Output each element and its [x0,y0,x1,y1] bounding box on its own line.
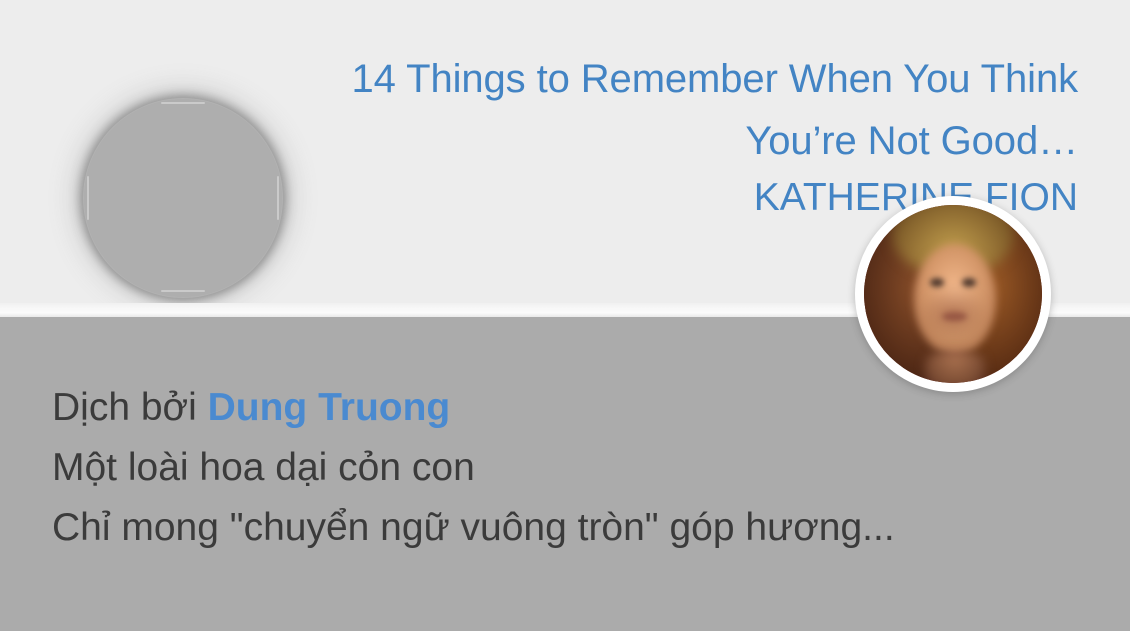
post-credit-prefix: Dịch bởi [52,386,208,429]
post-body-text: Dịch bởi Dung Truong Một loài hoa dại cỏ… [52,378,1090,558]
post-line-3: Chỉ mong "chuyển ngữ vuông tròn" góp hươ… [52,498,1090,558]
author-avatar-photo [864,205,1042,383]
image-placeholder-circle-icon [83,98,283,298]
article-headline[interactable]: 14 Things to Remember When You Think You… [278,48,1078,172]
link-preview-thumbnail[interactable] [83,98,283,298]
circle-notch-bottom-icon [161,290,205,292]
author-avatar[interactable] [855,196,1051,392]
circle-notch-top-icon [161,102,205,104]
circle-notch-left-icon [87,176,89,220]
translator-link[interactable]: Dung Truong [208,386,451,429]
post-line-2: Một loài hoa dại cỏn con [52,438,1090,498]
link-preview-card[interactable]: 14 Things to Remember When You Think You… [0,0,1130,317]
headline-line-1: 14 Things to Remember When You Think [278,48,1078,110]
portrait-vignette-icon [864,205,1042,383]
screenshot-stage: 14 Things to Remember When You Think You… [0,0,1130,631]
headline-line-2: You’re Not Good… [278,110,1078,172]
